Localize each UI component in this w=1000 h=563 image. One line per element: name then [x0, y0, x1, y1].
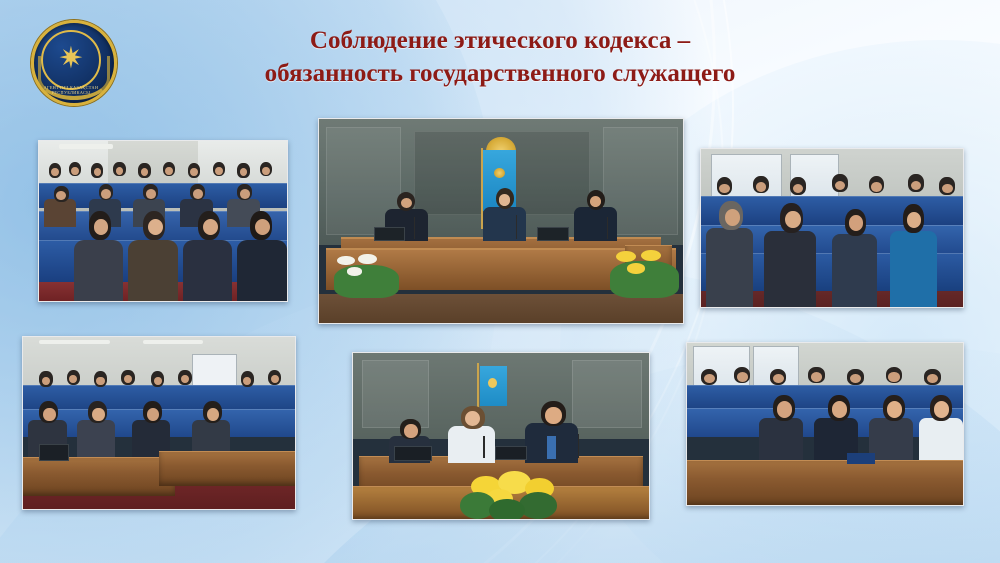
crowd-face	[51, 168, 58, 176]
photo-hall-overview	[22, 336, 296, 510]
presidium-person-body	[483, 207, 527, 242]
crowd-face	[704, 374, 715, 384]
photo-1-ceiling-light	[59, 144, 114, 149]
crowd-face	[71, 167, 78, 175]
crowd-face	[719, 184, 729, 193]
flower-petal	[337, 256, 354, 266]
crowd-body	[706, 228, 753, 307]
crowd-face	[934, 401, 949, 417]
presidium-person-face	[499, 194, 511, 205]
presidium-monitor	[537, 227, 568, 241]
meeting-table	[22, 457, 175, 496]
crowd-face	[43, 408, 55, 422]
table-monitor	[39, 444, 68, 461]
photo-4-ceiling-light	[39, 340, 110, 344]
crowd-face	[240, 189, 250, 199]
photo-6-scene	[687, 343, 963, 505]
crowd-face	[203, 219, 218, 235]
flower-petal	[641, 250, 662, 261]
slide-title-line-1: Соблюдение этического кодекса –	[150, 24, 850, 57]
flower-arrangement-right	[610, 250, 679, 307]
crowd-face	[255, 219, 270, 235]
crowd-face	[193, 189, 203, 199]
crowd-face	[146, 189, 156, 199]
speaker-face	[545, 407, 561, 424]
presidium-person-body	[574, 207, 618, 242]
photo-5-wall-panel	[362, 360, 429, 428]
crowd-face	[907, 212, 921, 228]
presidium-person-face	[401, 198, 412, 208]
crowd-face	[96, 377, 104, 386]
microphone	[578, 434, 580, 457]
crowd-face	[911, 181, 921, 190]
photo-participants-at-desks	[686, 342, 964, 506]
photo-3-scene	[701, 149, 963, 307]
crowd-face	[262, 167, 269, 175]
photo-presidium-with-flag	[318, 118, 684, 324]
crowd-face	[271, 375, 279, 384]
presentation-slide: ✷ Агенттігі Қазақстан Республикасы Соблю…	[0, 0, 1000, 563]
crowd-face	[773, 374, 784, 384]
crowd-face	[215, 167, 222, 175]
crowd-face	[101, 189, 111, 199]
emblem-caption-text: Агенттігі Қазақстан Республикасы	[28, 85, 114, 95]
presidium-person-face	[590, 196, 602, 207]
flower-petal	[358, 254, 376, 265]
laptop	[394, 446, 432, 461]
photo-audience-front-row	[38, 140, 288, 302]
crowd-body	[919, 418, 963, 463]
crowd-body	[759, 418, 803, 463]
flag-pole	[477, 363, 479, 413]
crowd-body	[44, 199, 76, 228]
crowd-body	[832, 234, 877, 307]
crowd-body	[74, 240, 124, 301]
laptop	[495, 446, 527, 460]
flag-sun-icon	[488, 378, 497, 388]
crowd-face	[887, 401, 902, 417]
photo-5-wall-panel	[572, 360, 642, 428]
microphone	[607, 217, 609, 239]
photo-seated-officials	[700, 148, 964, 308]
crowd-face	[777, 401, 792, 417]
photo-5-scene	[353, 353, 649, 519]
crowd-face	[207, 408, 219, 422]
flower-foliage	[519, 492, 557, 519]
crowd-face	[888, 372, 899, 382]
speaker-tie	[547, 436, 556, 459]
crowd-face	[737, 372, 748, 382]
speaker-body	[448, 426, 495, 463]
crowd-body	[764, 231, 816, 307]
photo-4-scene	[23, 337, 295, 509]
crowd-face	[190, 168, 197, 176]
crowd-body	[183, 240, 233, 301]
crowd-face	[871, 182, 881, 191]
meeting-table	[686, 460, 964, 506]
crowd-face	[832, 401, 847, 417]
crowd-face	[811, 372, 822, 382]
microphone	[483, 436, 485, 458]
flower-foliage	[334, 265, 400, 298]
flower-foliage	[610, 261, 679, 298]
folder	[847, 453, 875, 464]
flower-foliage	[489, 499, 525, 520]
crowd-face	[165, 167, 172, 175]
crowd-face	[154, 377, 162, 386]
meeting-table	[159, 451, 296, 486]
flower-arrangement-left	[334, 254, 400, 307]
microphone	[414, 217, 416, 239]
crowd-body	[77, 420, 115, 461]
crowd-body	[869, 418, 913, 463]
photo-speakers-at-table	[352, 352, 650, 520]
crowd-face	[116, 167, 123, 175]
presidium-monitor	[374, 227, 405, 241]
crowd-face	[756, 182, 766, 191]
crowd-face	[94, 168, 101, 176]
crowd-face	[835, 181, 845, 190]
flower-petal	[347, 267, 363, 275]
microphone	[516, 215, 518, 239]
photo-1-scene	[39, 141, 287, 301]
slide-title-line-2: обязанность государственного служащего	[150, 57, 850, 90]
crowd-face	[942, 184, 952, 193]
slide-title: Соблюдение этического кодекса – обязанно…	[150, 24, 850, 90]
crowd-body	[237, 240, 287, 301]
crowd-face	[785, 211, 801, 228]
flower-petal	[627, 263, 645, 273]
crowd-body	[890, 231, 937, 307]
crowd-face	[147, 408, 159, 422]
emblem-caption: Агенттігі Қазақстан Республикасы	[28, 14, 114, 106]
crowd-body	[128, 240, 178, 301]
crowd-face	[92, 408, 104, 422]
crowd-face	[124, 375, 132, 384]
photo-2-scene	[319, 119, 683, 323]
flag-sun-icon	[494, 168, 505, 178]
photo-4-ceiling-light	[143, 340, 203, 344]
participant-face	[404, 424, 417, 437]
state-emblem-icon: ✷ Агенттігі Қазақстан Республикасы	[28, 14, 114, 106]
